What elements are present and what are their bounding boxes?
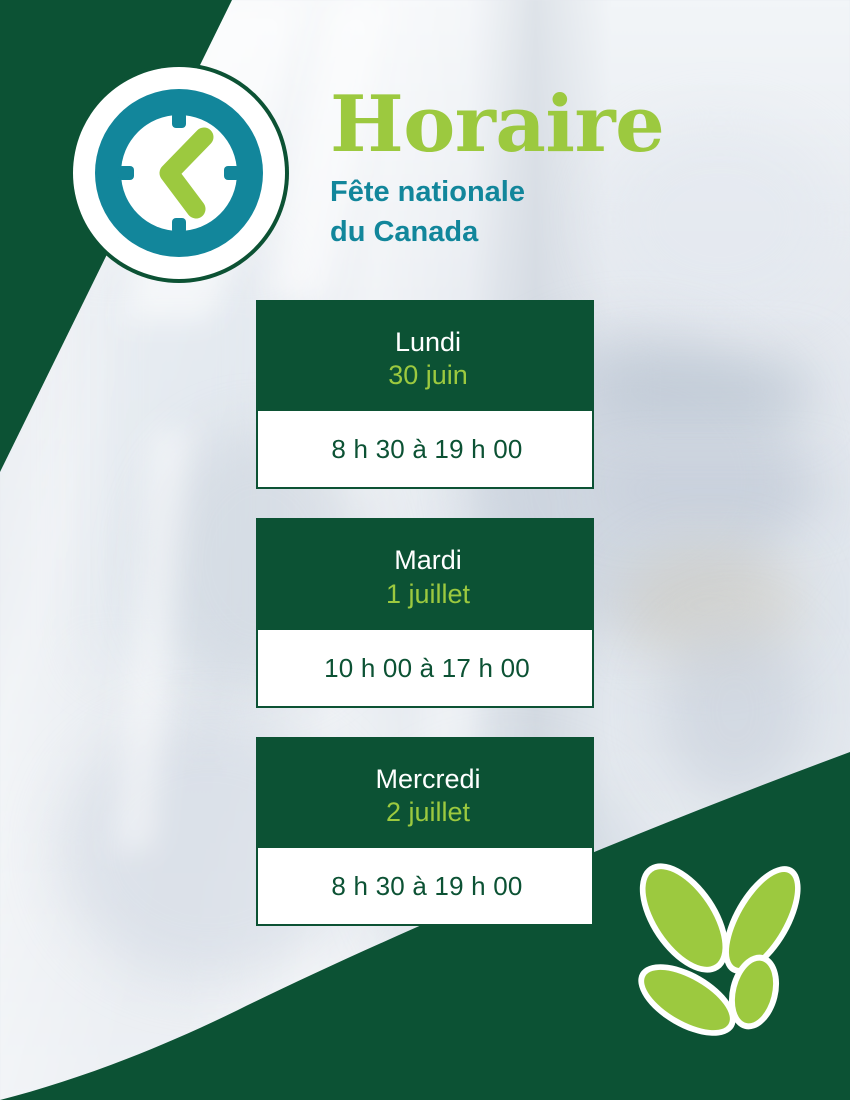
background-blur-shape <box>600 360 810 420</box>
page-title: Horaire <box>330 88 760 163</box>
page-subtitle: Fête nationaledu Canada <box>330 173 760 252</box>
schedule-day-label: Mercredi <box>256 763 594 795</box>
schedule-day-label: Mardi <box>256 544 594 576</box>
schedule-hours-band: 8 h 30 à 19 h 00 <box>256 409 594 489</box>
schedule-card-header: Mardi 1 juillet <box>256 518 594 628</box>
schedule-card: Mardi 1 juillet 10 h 00 à 17 h 00 <box>256 518 594 708</box>
schedule-card-header: Lundi 30 juin <box>256 300 594 410</box>
schedule-hours-label: 8 h 30 à 19 h 00 <box>327 434 522 464</box>
subtitle-line-2: du Canada <box>330 216 478 248</box>
schedule-date-label: 30 juin <box>256 358 594 392</box>
poster-canvas: Horaire Fête nationaledu Canada Lundi 30… <box>0 0 850 1100</box>
schedule-date-label: 1 juillet <box>256 577 594 611</box>
schedule-card-header: Mercredi 2 juillet <box>256 737 594 847</box>
schedule-hours-band: 10 h 00 à 17 h 00 <box>256 628 594 708</box>
schedule-list: Lundi 30 juin 8 h 30 à 19 h 00 Mardi 1 j… <box>256 300 594 927</box>
clock-icon <box>68 62 290 284</box>
title-block: Horaire Fête nationaledu Canada <box>330 88 760 252</box>
schedule-hours-label: 10 h 00 à 17 h 00 <box>320 653 530 683</box>
schedule-hours-band: 8 h 30 à 19 h 00 <box>256 846 594 926</box>
schedule-date-label: 2 juillet <box>256 795 594 829</box>
schedule-day-label: Lundi <box>256 326 594 358</box>
subtitle-line-1: Fête nationale <box>330 176 525 208</box>
schedule-hours-label: 8 h 30 à 19 h 00 <box>327 871 522 901</box>
schedule-card: Lundi 30 juin 8 h 30 à 19 h 00 <box>256 300 594 490</box>
background-blur-shape <box>660 620 810 800</box>
butterfly-logo-icon <box>612 852 832 1062</box>
background-blur-shape <box>605 470 825 510</box>
schedule-card: Mercredi 2 juillet 8 h 30 à 19 h 00 <box>256 737 594 927</box>
